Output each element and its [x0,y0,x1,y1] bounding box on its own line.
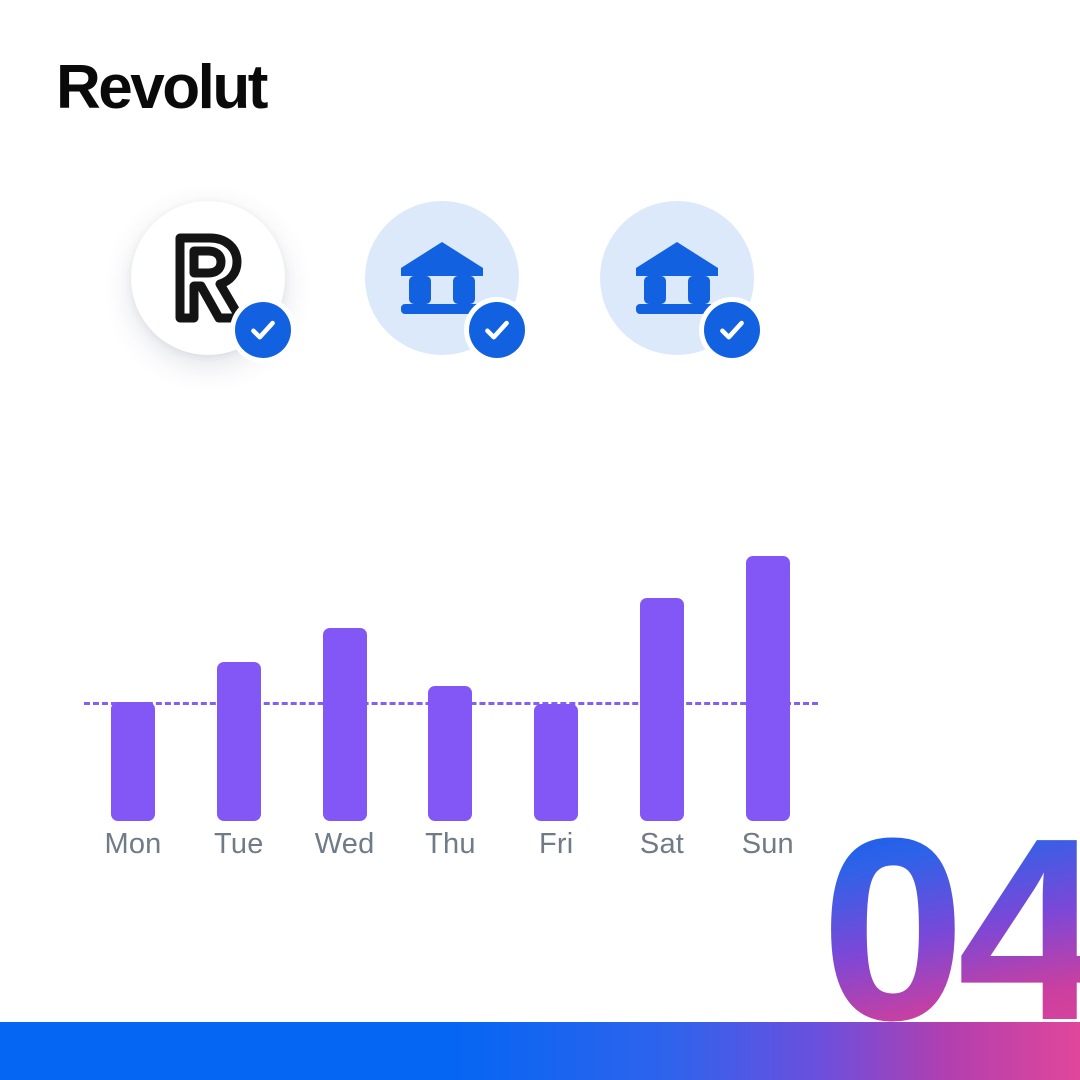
weekly-spending-chart: MonTueWedThuFriSatSun [84,556,824,876]
chart-bar [746,556,790,821]
chart-bar [640,598,684,821]
chart-bar [323,628,367,821]
connected-accounts-row [131,201,831,391]
verified-badge-disc [235,302,291,358]
revolut-wordmark: Revolut [56,52,476,124]
chart-bar [111,702,155,821]
chart-bar [428,686,472,821]
slide-canvas: Revolut [0,0,1080,1080]
account-chip-revolut[interactable] [131,201,285,355]
chart-x-label: Thu [400,828,500,861]
slide-number: 04 [821,800,1080,1060]
check-icon [247,314,279,346]
chart-x-label: Wed [295,828,395,861]
check-icon [481,314,513,346]
verified-badge-disc [704,302,760,358]
chart-x-label: Sun [718,828,818,861]
chart-x-label: Tue [189,828,289,861]
check-icon [716,314,748,346]
account-chip-bank-2[interactable] [600,201,754,355]
chart-bar [534,704,578,821]
verified-badge-disc [469,302,525,358]
chart-plot-area [84,556,824,821]
account-chip-bank-1[interactable] [365,201,519,355]
chart-x-label: Sat [612,828,712,861]
verified-badge-revolut [230,297,296,363]
chart-bar [217,662,261,821]
chart-x-label: Fri [506,828,606,861]
verified-badge-bank-2 [699,297,765,363]
chart-x-axis: MonTueWedThuFriSatSun [84,828,824,872]
brand-wordmark-text: Revolut [56,53,268,122]
verified-badge-bank-1 [464,297,530,363]
bottom-gradient-strip [0,1022,1080,1080]
bank-icon [634,240,720,316]
chart-x-label: Mon [83,828,183,861]
bank-icon [399,240,485,316]
